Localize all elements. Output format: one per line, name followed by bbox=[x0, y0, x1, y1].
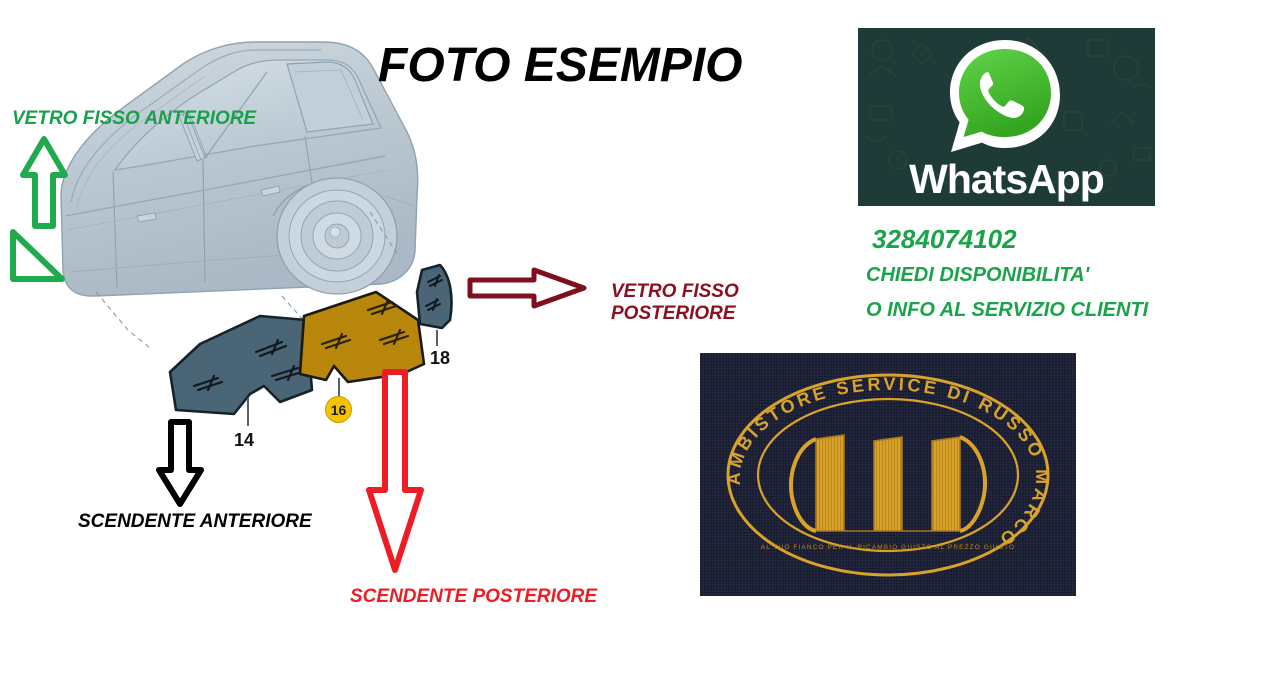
whatsapp-wordmark: WhatsApp bbox=[858, 156, 1155, 203]
arrow-up-green-icon bbox=[20, 135, 68, 230]
arrow-right-darkred-icon bbox=[466, 266, 588, 310]
leader-14 bbox=[247, 398, 249, 426]
whatsapp-banner: WhatsApp bbox=[858, 28, 1155, 206]
triangle-green-icon bbox=[8, 228, 66, 284]
page-title: FOTO ESEMPIO bbox=[378, 38, 743, 93]
shop-logo-microtext: AL TUO FIANCO PER IL RICAMBIO GIUSTO AL … bbox=[761, 544, 1015, 551]
contact-line-availability: CHIEDI DISPONIBILITA' bbox=[866, 264, 1089, 287]
shop-logo-artwork: MRICAMBISTORE SERVICE DI RUSSO MARCO AL … bbox=[700, 353, 1076, 596]
arrow-down-red-icon bbox=[365, 368, 425, 576]
label-vetro-fisso-posteriore-line2: POSTERIORE bbox=[611, 303, 739, 325]
poster-canvas: 14 16 17 18 bbox=[0, 0, 1264, 678]
part-number-14: 14 bbox=[234, 430, 254, 451]
part-18-quarter-glass bbox=[412, 262, 460, 332]
part-number-18: 18 bbox=[430, 348, 450, 369]
label-vetro-fisso-anteriore: VETRO FISSO ANTERIORE bbox=[12, 108, 256, 130]
shop-logo-image: MRICAMBISTORE SERVICE DI RUSSO MARCO AL … bbox=[700, 353, 1076, 596]
leader-18 bbox=[436, 330, 438, 346]
contact-phone-number: 3284074102 bbox=[872, 224, 1017, 255]
label-scendente-posteriore: SCENDENTE POSTERIORE bbox=[350, 586, 597, 608]
contact-line-customer-service: O INFO AL SERVIZIO CLIENTI bbox=[866, 299, 1148, 322]
part-badge-16: 16 bbox=[325, 396, 352, 423]
leader-16 bbox=[338, 378, 340, 398]
whatsapp-logo-icon bbox=[944, 36, 1066, 158]
label-vetro-fisso-posteriore: VETRO FISSO POSTERIORE bbox=[611, 281, 739, 325]
arrow-down-black-icon bbox=[155, 418, 205, 508]
label-vetro-fisso-posteriore-line1: VETRO FISSO bbox=[611, 281, 739, 303]
label-scendente-anteriore: SCENDENTE ANTERIORE bbox=[78, 511, 312, 533]
